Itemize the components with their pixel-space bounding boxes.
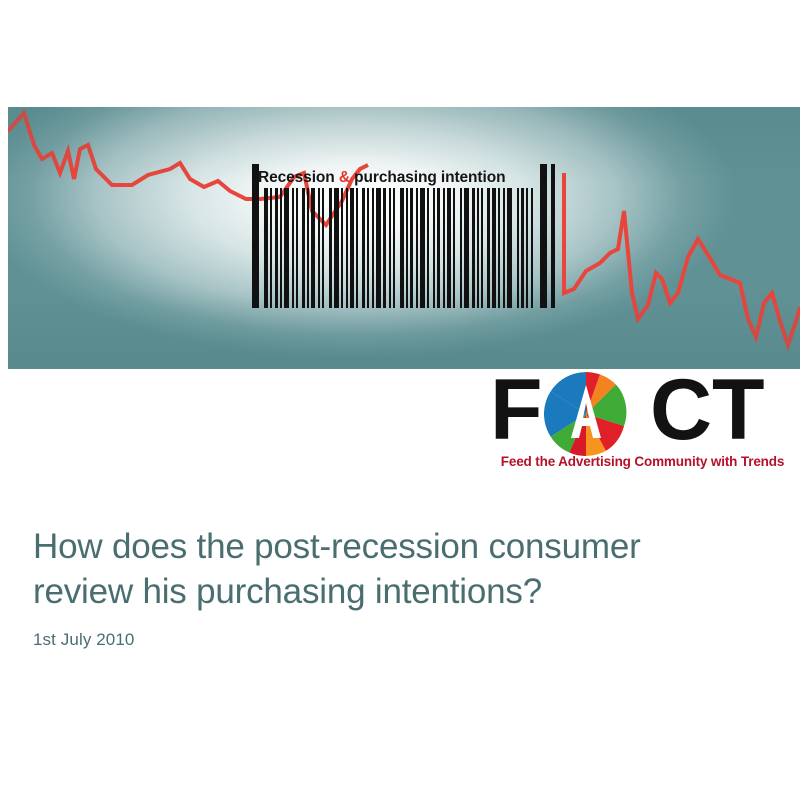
barcode-bar [416,188,418,308]
barcode-bar [487,188,490,308]
barcode-bar [284,188,289,308]
barcode-bar [492,188,496,308]
title-slide: Recession & purchasing intention F [0,0,800,800]
fact-logo-tagline: Feed the Advertising Community with Tren… [490,454,795,469]
barcode-bar [420,188,425,308]
barcode-bar [329,188,332,308]
barcode-bar [264,188,268,308]
barcode-bar [477,188,479,308]
barcode-bar [526,188,528,308]
barcode-bar [406,188,408,308]
barcode-bar [362,188,365,308]
barcode-bar [447,188,451,308]
fact-logo-wordmark: F [490,368,795,456]
barcode-bar [296,188,298,308]
barcode-bar [437,188,440,308]
barcode-bar [427,188,429,308]
fact-logo-letter-c: C [650,366,709,454]
barcode-caption-suffix: purchasing intention [350,169,505,186]
barcode-guard-right-inner [540,164,547,308]
barcode-guard-right-outer [551,164,555,308]
fact-logo-a-mark-icon [544,372,628,456]
barcode-bar [270,188,272,308]
barcode-bar [389,188,391,308]
barcode-bar [400,188,404,308]
barcode-bars [248,188,552,308]
barcode-graphic: Recession & purchasing intention [240,162,560,312]
trend-line-right-path [564,173,800,345]
barcode-caption: Recession & purchasing intention [258,166,548,190]
barcode-bar [322,188,324,308]
barcode-guard-left [252,164,259,308]
barcode-bar [356,188,358,308]
barcode-bar [346,188,348,308]
barcode-caption-prefix: Recession [258,169,339,186]
barcode-bar [341,188,343,308]
barcode-bar [472,188,475,308]
barcode-bar [376,188,381,308]
page-title-line-1: How does the post-recession consumer [33,524,753,569]
barcode-bar [334,188,339,308]
barcode-bar [292,188,294,308]
barcode-bar [460,188,462,308]
barcode-bar [498,188,500,308]
page-title-line-2: review his purchasing intentions? [33,569,753,614]
barcode-bar [302,188,305,308]
fact-logo-letter-f: F [490,366,540,454]
barcode-bar [372,188,374,308]
barcode-bar [410,188,413,308]
barcode-bar [517,188,519,308]
barcode-bar [393,188,395,308]
page-title: How does the post-recession consumer rev… [33,524,753,614]
barcode-bar [521,188,524,308]
barcode-bar [507,188,512,308]
barcode-bar [350,188,354,308]
barcode-bar [383,188,386,308]
barcode-bar [367,188,369,308]
barcode-bar [464,188,469,308]
slide-date: 1st July 2010 [33,628,134,652]
barcode-caption-ampersand: & [339,169,350,186]
barcode-bar [481,188,483,308]
barcode-bar [280,188,282,308]
fact-logo: F [490,368,795,480]
barcode-bar [503,188,505,308]
barcode-bar [453,188,455,308]
barcode-bar [531,188,533,308]
barcode-bar [307,188,309,308]
barcode-bar [318,188,320,308]
barcode-bar [311,188,315,308]
fact-logo-letter-t: T [712,366,762,454]
barcode-bar [443,188,445,308]
barcode-bar [275,188,278,308]
barcode-bar [433,188,435,308]
hero-banner: Recession & purchasing intention [8,107,800,369]
